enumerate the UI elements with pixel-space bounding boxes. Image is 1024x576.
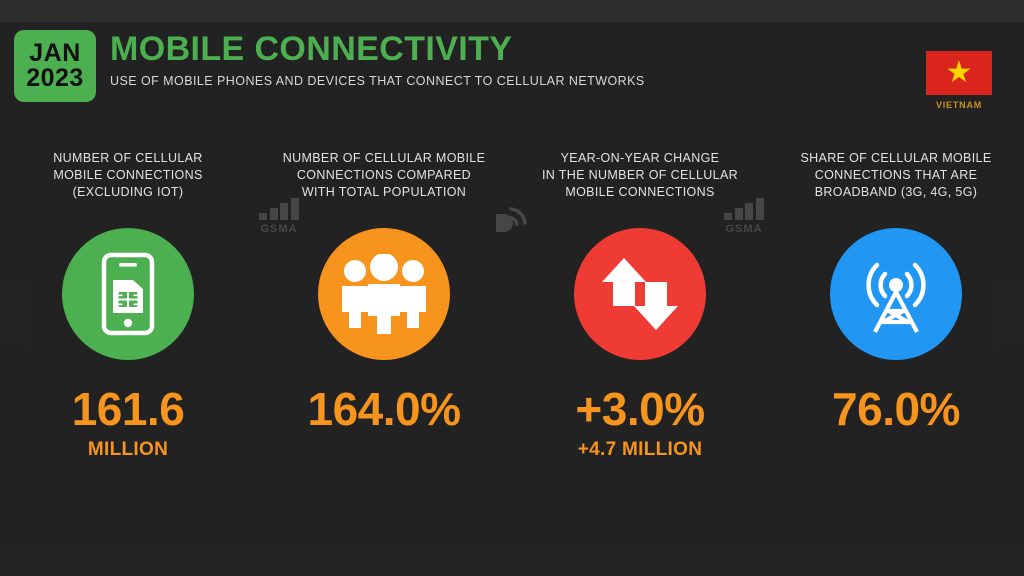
metric-heading: NUMBER OF CELLULAR MOBILE CONNECTIONS CO… [277, 150, 492, 208]
cell-tower-icon [830, 228, 962, 360]
metric-subvalue: +4.7 MILLION [578, 440, 702, 459]
up-down-arrows-icon [574, 228, 706, 360]
metric-heading-line1: NUMBER OF CELLULAR [21, 150, 236, 167]
date-month: JAN [29, 41, 81, 67]
metric-value: 76.0% [832, 386, 960, 432]
gsma-source-logo: GSMA [256, 198, 302, 235]
metric-heading: SHARE OF CELLULAR MOBILE CONNECTIONS THA… [789, 150, 1004, 208]
date-badge: JAN 2023 [14, 30, 96, 102]
gsma-label: GSMA [721, 223, 767, 235]
metric-heading-line3: (EXCLUDING IOT) [21, 184, 236, 201]
metric-heading-line2: IN THE NUMBER OF CELLULAR [533, 167, 748, 184]
metric-heading: YEAR-ON-YEAR CHANGE IN THE NUMBER OF CEL… [533, 150, 748, 208]
metric-value: +3.0% [575, 386, 704, 432]
country-label: VIETNAM [919, 100, 999, 110]
gsma-source-logo: GSMA [721, 198, 767, 235]
metric-heading: NUMBER OF CELLULAR MOBILE CONNECTIONS (E… [21, 150, 236, 208]
metric-heading-line1: NUMBER OF CELLULAR MOBILE [277, 150, 492, 167]
metric-heading-line3: BROADBAND (3G, 4G, 5G) [789, 184, 1004, 201]
metric-column-cellular-connections: NUMBER OF CELLULAR MOBILE CONNECTIONS (E… [0, 150, 256, 510]
smartphone-sim-icon [62, 228, 194, 360]
bottom-band [0, 546, 1024, 576]
metric-heading-line3: MOBILE CONNECTIONS [533, 184, 748, 201]
header: JAN 2023 MOBILE CONNECTIVITY USE OF MOBI… [0, 8, 1024, 108]
title-block: MOBILE CONNECTIVITY USE OF MOBILE PHONES… [110, 32, 645, 88]
metric-heading-line1: SHARE OF CELLULAR MOBILE [789, 150, 1004, 167]
country-flag-block: ★ VIETNAM [919, 51, 999, 110]
metric-heading-line2: CONNECTIONS THAT ARE [789, 167, 1004, 184]
gsma-bars-icon [256, 198, 302, 220]
metric-value: 164.0% [307, 386, 460, 432]
vietnam-flag-icon: ★ [926, 51, 992, 95]
metric-heading-line2: CONNECTIONS COMPARED [277, 167, 492, 184]
metric-column-broadband-share: SHARE OF CELLULAR MOBILE CONNECTIONS THA… [768, 150, 1024, 510]
datareportal-source-logo [492, 202, 532, 245]
metric-value: 161.6 [72, 386, 185, 432]
gsma-label: GSMA [256, 223, 302, 235]
metric-subvalue: MILLION [88, 440, 168, 459]
gsma-bars-icon [721, 198, 767, 220]
date-year: 2023 [26, 66, 84, 92]
page-subtitle: USE OF MOBILE PHONES AND DEVICES THAT CO… [110, 74, 645, 88]
flag-star-icon: ★ [946, 58, 973, 88]
metric-heading-line3: WITH TOTAL POPULATION [277, 184, 492, 201]
people-group-icon [318, 228, 450, 360]
metric-heading-line1: YEAR-ON-YEAR CHANGE [533, 150, 748, 167]
metric-heading-line2: MOBILE CONNECTIONS [21, 167, 236, 184]
datareportal-icon [492, 202, 532, 240]
page-title: MOBILE CONNECTIVITY [110, 32, 645, 68]
